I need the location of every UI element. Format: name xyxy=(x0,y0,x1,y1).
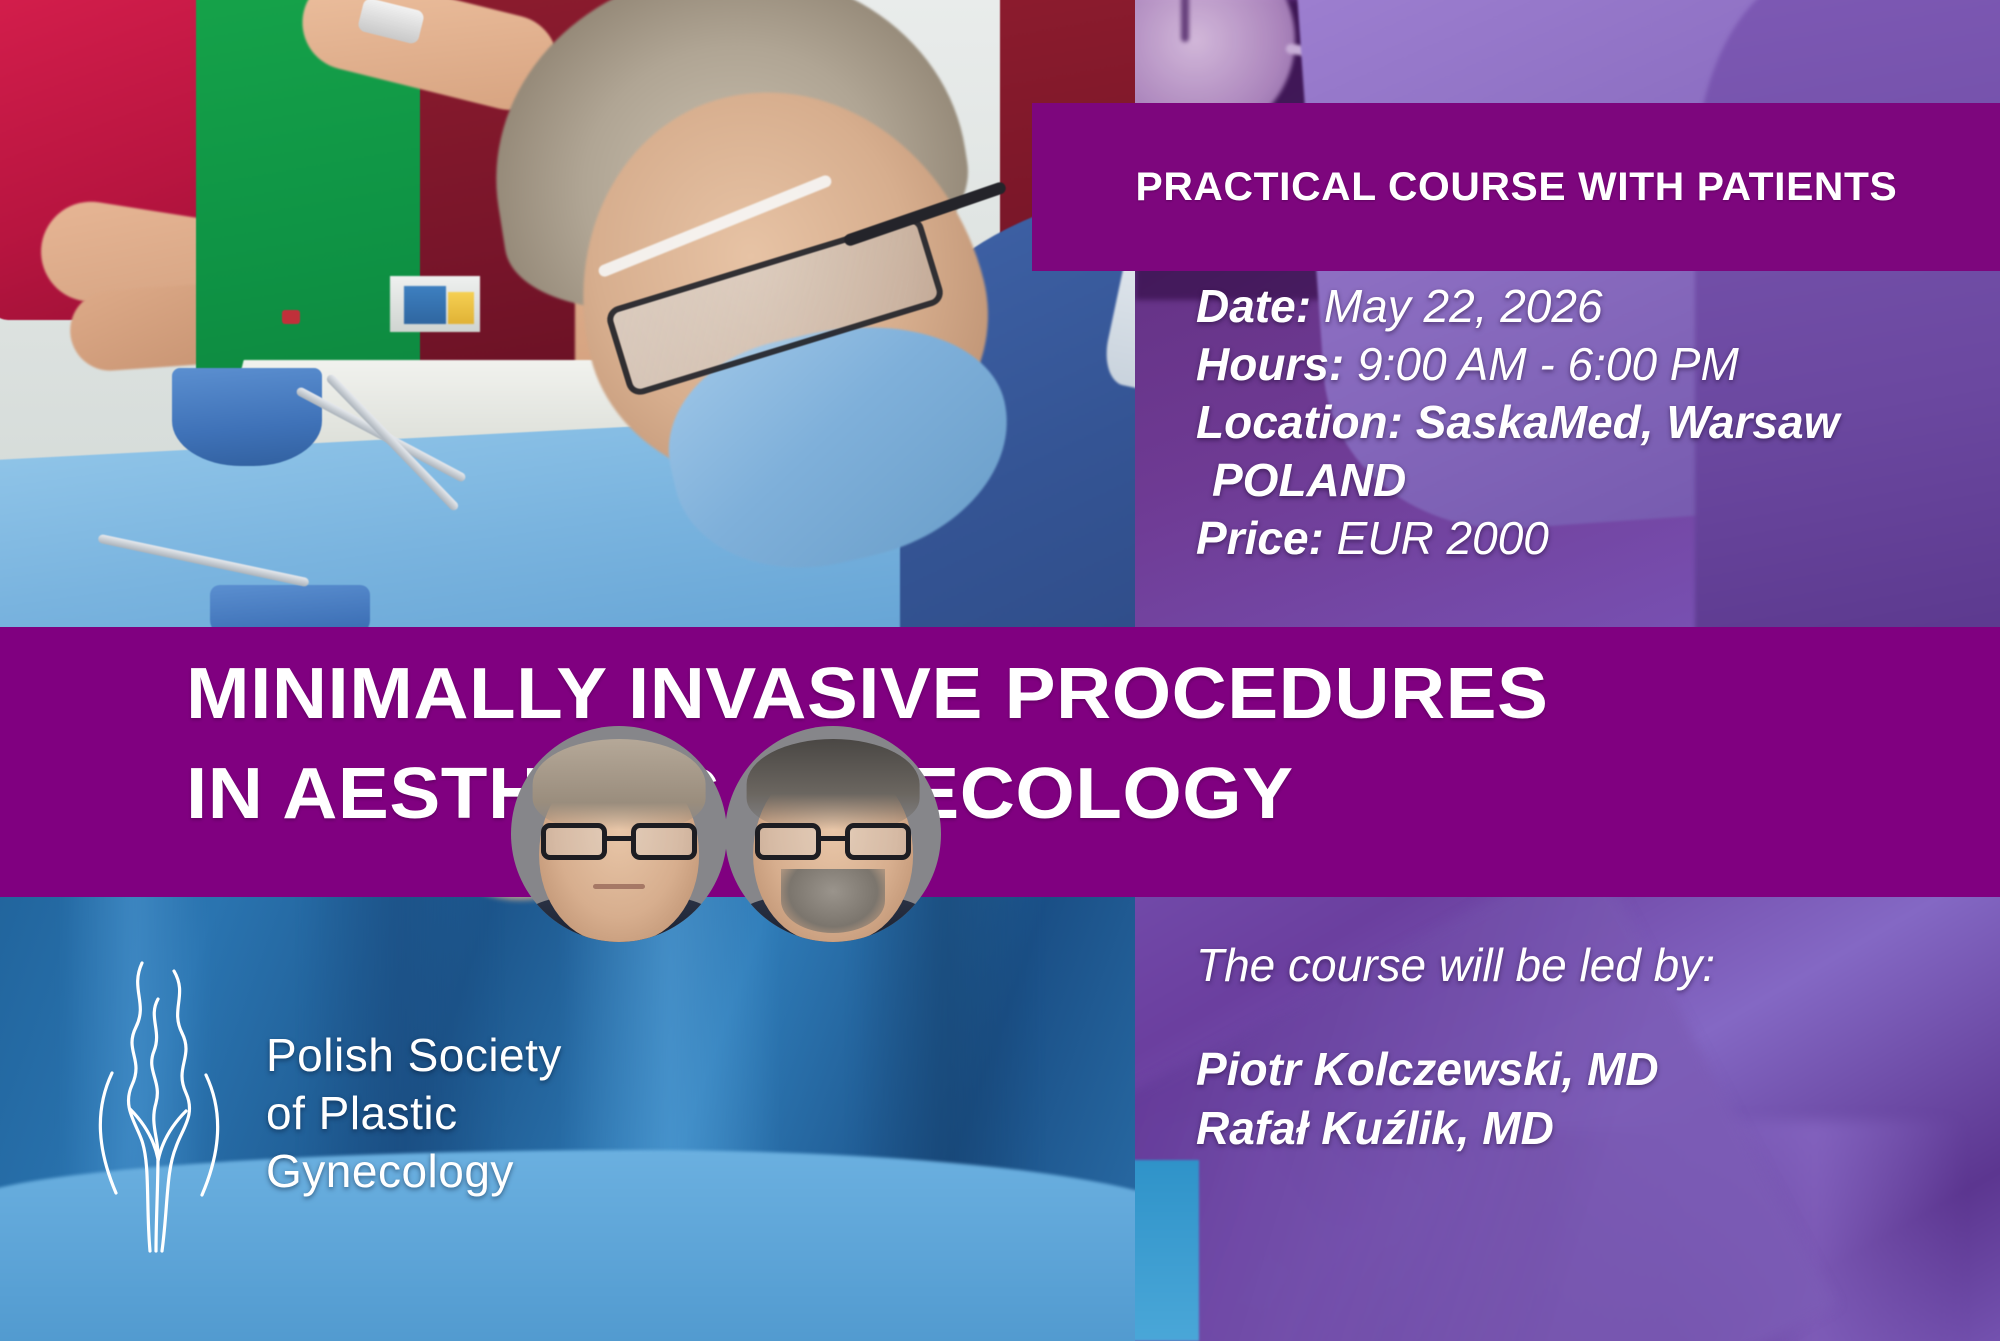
price-value: EUR 2000 xyxy=(1337,512,1549,564)
avatar xyxy=(725,726,941,942)
lens-bridge xyxy=(607,836,632,841)
speaker-name-1: Piotr Kolczewski, MD xyxy=(1196,1040,2000,1099)
detail-price: Price: EUR 2000 xyxy=(1196,510,2000,568)
location-country: POLAND xyxy=(1196,452,2000,510)
detail-date: Date: May 22, 2026 xyxy=(1196,278,2000,336)
course-title-band: MINIMALLY INVASIVE PROCEDURES IN AESTHET… xyxy=(0,627,2000,897)
price-label: Price: xyxy=(1196,512,1324,564)
lens-right xyxy=(845,823,910,860)
event-details: Date: May 22, 2026 Hours: 9:00 AM - 6:00… xyxy=(1196,278,2000,568)
course-title-line-1: MINIMALLY INVASIVE PROCEDURES xyxy=(186,653,1548,735)
society-logo-text: Polish Society of Plastic Gynecology xyxy=(266,1027,690,1201)
surgical-bowl xyxy=(172,368,322,466)
faculty-list: Piotr Kolczewski, MD Rafał Kuźlik, MD xyxy=(1196,1040,2000,1158)
female-silhouette-line-art-icon xyxy=(70,955,250,1255)
location-value: SaskaMed, Warsaw xyxy=(1416,396,1840,448)
course-poster: PRACTICAL COURSE WITH PATIENTS Date: May… xyxy=(0,0,2000,1341)
portrait-beard xyxy=(781,869,885,934)
portrait-hair xyxy=(533,739,706,830)
society-name-line-2: of Plastic Gynecology xyxy=(266,1085,690,1201)
headline-text: PRACTICAL COURSE WITH PATIENTS xyxy=(1135,165,1897,210)
hours-label: Hours: xyxy=(1196,338,1344,390)
avatar xyxy=(511,726,727,942)
faculty-intro: The course will be led by: xyxy=(1196,938,2000,992)
portrait-hair xyxy=(747,739,920,830)
lens-bridge xyxy=(821,836,846,841)
speaker-name-2: Rafał Kuźlik, MD xyxy=(1196,1099,2000,1158)
date-value: May 22, 2026 xyxy=(1324,280,1603,332)
hours-value: 9:00 AM - 6:00 PM xyxy=(1357,338,1739,390)
portrait-mouth xyxy=(593,884,645,889)
society-name-line-1: Polish Society xyxy=(266,1027,690,1085)
lens-right xyxy=(631,823,696,860)
detail-location: Location: SaskaMed, Warsaw xyxy=(1196,394,2000,452)
date-label: Date: xyxy=(1196,280,1311,332)
blue-drape-edge xyxy=(1135,1160,1199,1341)
portrait-eyeglasses-icon xyxy=(755,823,911,860)
headline-banner: PRACTICAL COURSE WITH PATIENTS xyxy=(1032,103,2000,271)
portrait-eyeglasses-icon xyxy=(541,823,697,860)
speaker-photo-piotr-kolczewski xyxy=(511,726,727,942)
lens-left xyxy=(755,823,820,860)
society-logo: Polish Society of Plastic Gynecology xyxy=(70,955,690,1255)
lens-left xyxy=(541,823,606,860)
surgeon-portrait xyxy=(430,0,990,530)
detail-hours: Hours: 9:00 AM - 6:00 PM xyxy=(1196,336,2000,394)
speaker-photo-rafal-kuzlik xyxy=(725,726,941,942)
location-label: Location: xyxy=(1196,396,1403,448)
